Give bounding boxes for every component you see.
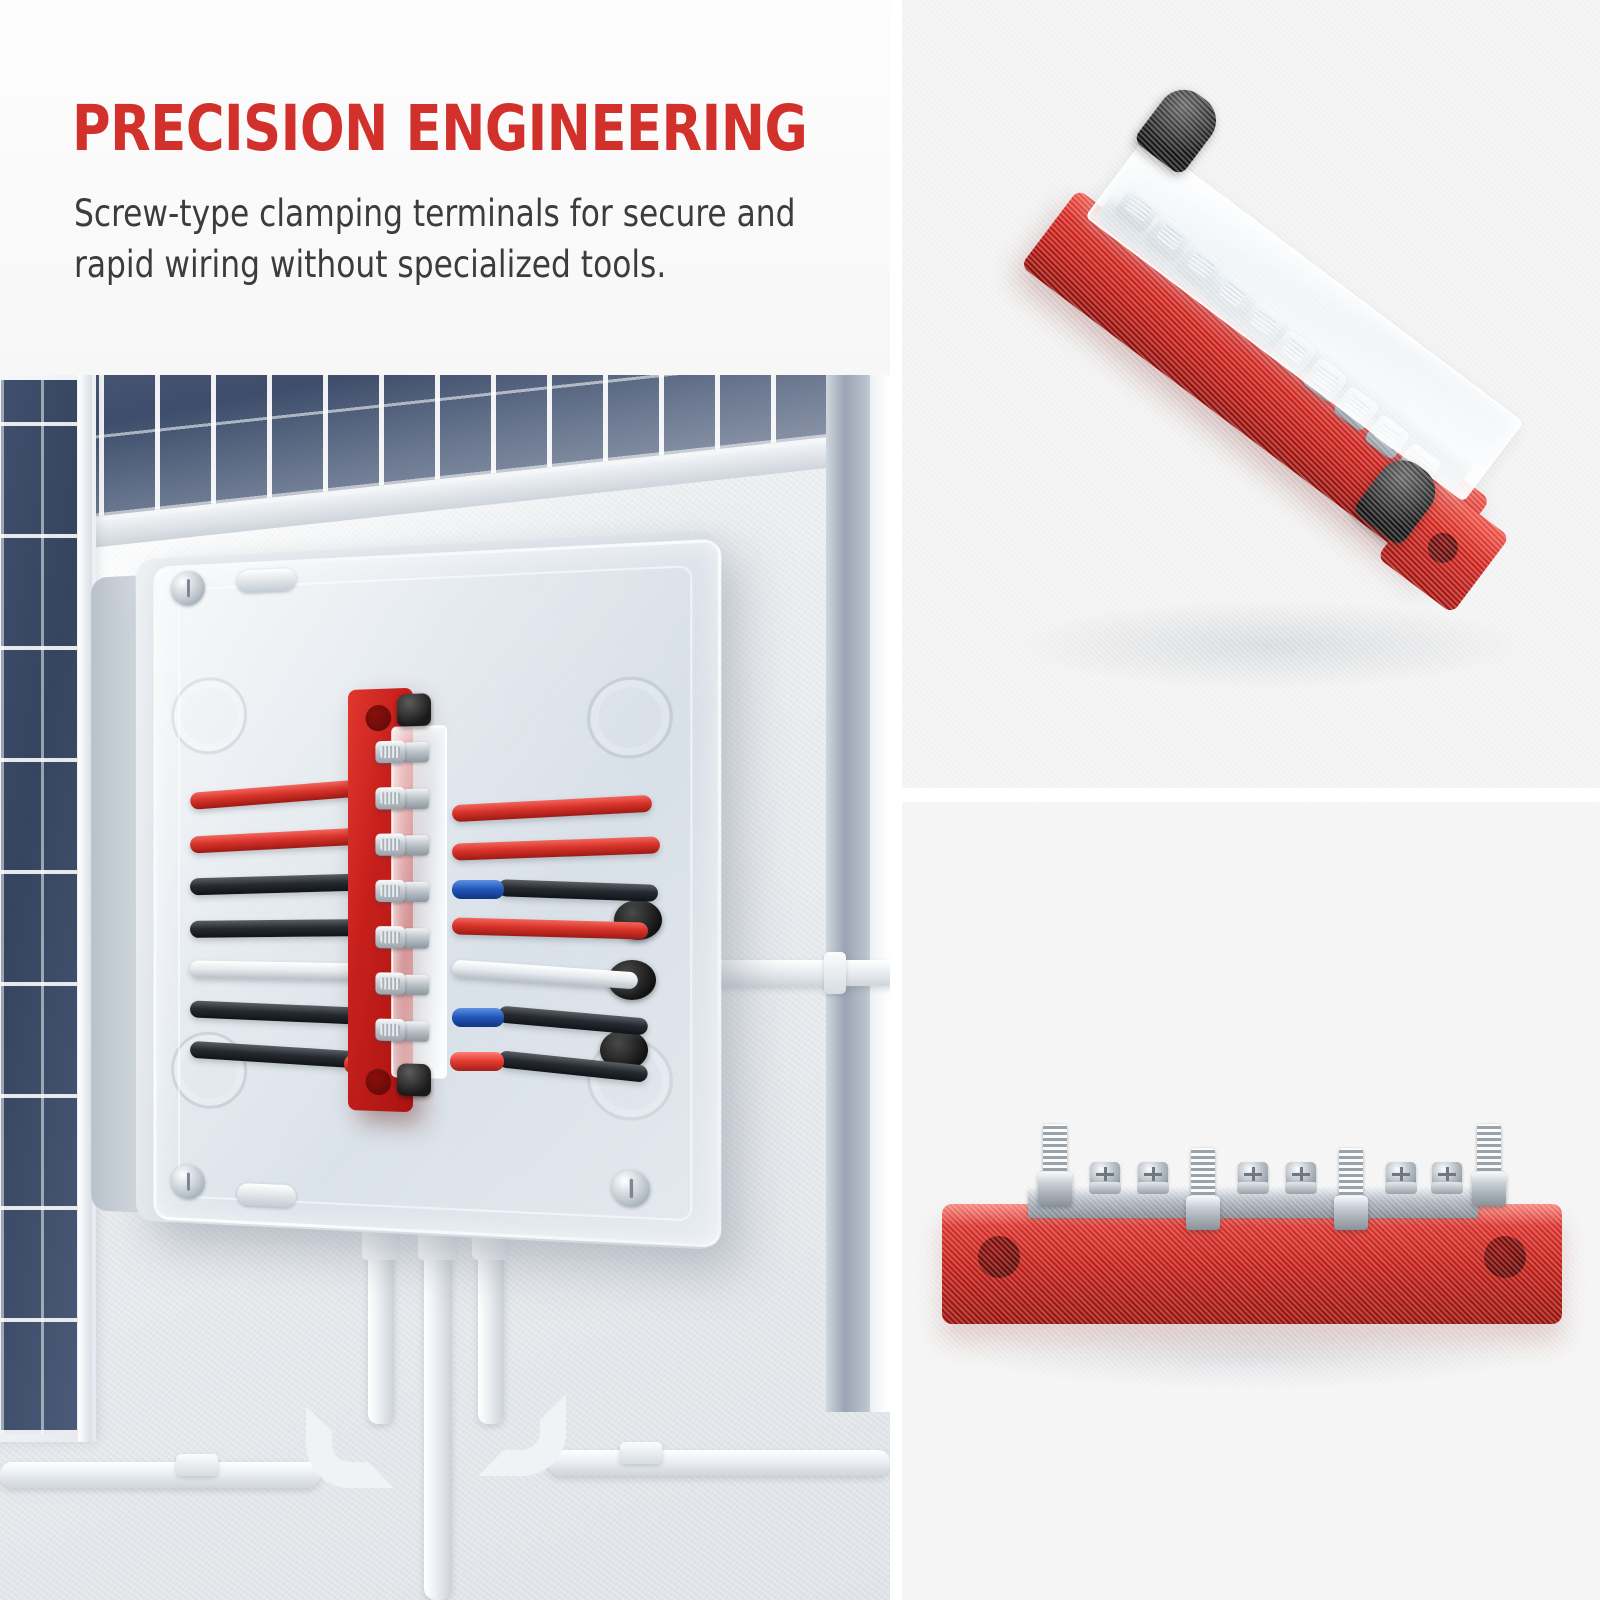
front-stud-1[interactable] (1038, 1124, 1072, 1216)
copy-block: PRECISION ENGINEERING Screw-type clampin… (0, 0, 890, 375)
conduit-clip-left-lower (176, 1454, 218, 1476)
terminal-inner-6 (403, 975, 429, 996)
terminal-5[interactable] (375, 926, 405, 948)
terminal-inner-2 (403, 789, 429, 810)
terminal-inner-1 (403, 742, 429, 763)
front-stud-2[interactable] (1186, 1148, 1220, 1240)
angled-terminal-7[interactable] (1301, 357, 1349, 404)
angled-terminal-3[interactable] (1176, 243, 1224, 290)
front-screw-1[interactable] (1090, 1162, 1120, 1200)
terminal-2[interactable] (375, 787, 405, 810)
terminal-inner-3 (403, 835, 429, 855)
bus-bar-mount-hole-bottom (366, 1068, 392, 1095)
subtitle-line-1: Screw-type clamping terminals for secure… (74, 188, 854, 239)
conduit-bend-left (306, 1406, 394, 1488)
front-screw-4[interactable] (1286, 1162, 1316, 1200)
angled-clear-cover (1085, 137, 1524, 502)
bus-bar-front-view (942, 1140, 1562, 1340)
marketing-image: PRECISION ENGINEERING Screw-type clampin… (0, 0, 1600, 1600)
angled-terminal-8[interactable] (1332, 385, 1380, 432)
angled-base (1020, 189, 1490, 576)
angled-terminal-2[interactable] (1145, 214, 1193, 261)
boot-out-3 (452, 880, 504, 899)
page-subtitle: Screw-type clamping terminals for secure… (74, 188, 854, 290)
conduit-right-upper (700, 960, 890, 986)
lid-hinge-bottom (237, 1183, 296, 1208)
cap-nut-top (397, 693, 431, 726)
conduit-clip-right-lower (620, 1442, 662, 1464)
angled-terminal-5[interactable] (1239, 300, 1287, 347)
angled-terminal-10[interactable] (1394, 442, 1442, 489)
angled-cap-nut-top (1133, 79, 1227, 176)
angled-cap-nut-bottom (1352, 450, 1446, 547)
front-screw-2[interactable] (1138, 1162, 1168, 1200)
hero-panel: PRECISION ENGINEERING Screw-type clampin… (0, 0, 890, 1600)
terminal-6[interactable] (375, 972, 405, 995)
conduit-left-horizontal (0, 1462, 320, 1488)
subtitle-line-2: rapid wiring without specialized tools. (74, 239, 854, 290)
angled-terminal-4[interactable] (1208, 271, 1256, 318)
conduit-center-vertical (424, 1228, 452, 1600)
front-red-base (942, 1204, 1562, 1324)
wire-row-5 (190, 961, 360, 981)
divider-horizontal (890, 788, 1600, 802)
product-front-panel (900, 800, 1600, 1600)
terminal-inner-4 (403, 882, 429, 902)
angled-terminal-1[interactable] (1114, 186, 1162, 233)
boot-out-6 (452, 1008, 504, 1027)
lid-screw-bottom-left[interactable] (171, 1164, 205, 1200)
product-angled-shadow (1010, 600, 1530, 690)
product-angled-panel (900, 0, 1600, 788)
terminal-inner-7 (403, 1021, 429, 1042)
terminal-1[interactable] (375, 741, 405, 764)
conduit-clip-right (824, 952, 846, 994)
wire-row-4 (190, 919, 360, 938)
terminal-4[interactable] (375, 880, 405, 902)
angled-terminal-9[interactable] (1363, 414, 1411, 461)
bus-bar-angled-view (900, 0, 1600, 788)
angled-metal-bar (1094, 191, 1475, 490)
angled-mount-hole (1422, 527, 1464, 569)
solar-panel-right (826, 352, 890, 1412)
front-mount-hole-left (978, 1236, 1020, 1278)
front-stud-4[interactable] (1472, 1124, 1506, 1216)
angled-terminal-6[interactable] (1270, 328, 1318, 375)
solar-panel-left (0, 372, 96, 1442)
angled-base-mount-tab (1377, 480, 1510, 613)
terminal-inner-5 (403, 928, 429, 948)
boot-out-7 (450, 1052, 504, 1071)
product-front-shadow (960, 1320, 1540, 1390)
page-title: PRECISION ENGINEERING (72, 96, 835, 162)
conduit-right-horizontal (548, 1450, 890, 1476)
front-stud-3[interactable] (1334, 1148, 1368, 1240)
lid-hinge-top (237, 568, 296, 593)
cap-nut-bottom (397, 1063, 431, 1096)
red-bus-bar (348, 687, 443, 1114)
terminal-7[interactable] (375, 1019, 405, 1042)
front-screw-5[interactable] (1386, 1162, 1416, 1200)
front-screw-3[interactable] (1238, 1162, 1268, 1200)
front-screw-6[interactable] (1432, 1162, 1462, 1200)
front-mount-hole-right (1484, 1236, 1526, 1278)
terminal-3[interactable] (375, 833, 405, 855)
